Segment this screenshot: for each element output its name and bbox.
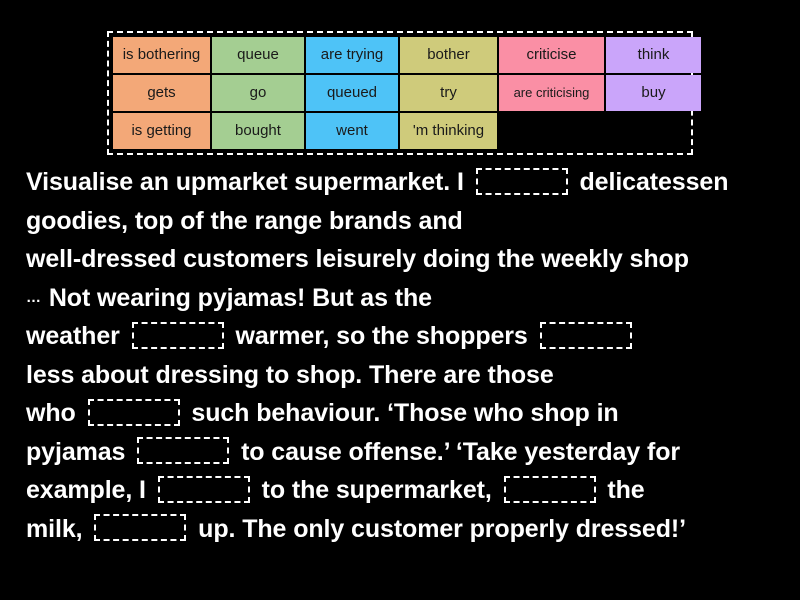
cloze-line: example, I to the supermarket, the: [26, 471, 778, 510]
word-tile[interactable]: is getting: [113, 113, 210, 149]
word-tile[interactable]: queued: [306, 75, 398, 111]
word-tile[interactable]: criticise: [499, 37, 604, 73]
word-tile[interactable]: bother: [400, 37, 497, 73]
answer-blank[interactable]: [476, 168, 568, 195]
word-tile[interactable]: are trying: [306, 37, 398, 73]
word-tile[interactable]: try: [400, 75, 497, 111]
cloze-line: pyjamas to cause offense.’ ‘Take yesterd…: [26, 433, 778, 472]
answer-blank[interactable]: [540, 322, 632, 349]
cloze-text-run: well-dressed customers leisurely doing t…: [26, 245, 689, 273]
ellipsis-mark: …: [26, 289, 42, 306]
word-bank-grid: is botheringqueueare tryingbothercritici…: [113, 37, 687, 149]
word-bank-container: is botheringqueueare tryingbothercritici…: [107, 31, 693, 155]
cloze-text-run: warmer, so the shoppers: [229, 322, 535, 350]
word-tile[interactable]: queue: [212, 37, 304, 73]
cloze-text-passage: Visualise an upmarket supermarket. I del…: [26, 163, 778, 548]
word-tile[interactable]: went: [306, 113, 398, 149]
cloze-text-run: the: [601, 476, 645, 504]
cloze-line: weather warmer, so the shoppers: [26, 317, 778, 356]
cloze-text-run: goodies, top of the range brands and: [26, 207, 463, 235]
cloze-text-run: such behaviour. ‘Those who shop in: [185, 399, 619, 427]
cloze-text-run: to the supermarket,: [255, 476, 499, 504]
word-tile[interactable]: 'm thinking: [400, 113, 497, 149]
cloze-text-run: pyjamas: [26, 438, 132, 466]
answer-blank[interactable]: [88, 399, 180, 426]
word-tile[interactable]: is bothering: [113, 37, 210, 73]
cloze-text-run: delicatessen: [573, 168, 729, 196]
word-tile[interactable]: are criticising: [499, 75, 604, 111]
answer-blank[interactable]: [158, 476, 250, 503]
cloze-text-run: weather: [26, 322, 127, 350]
word-tile[interactable]: bought: [212, 113, 304, 149]
answer-blank[interactable]: [94, 514, 186, 541]
cloze-text-run: example, I: [26, 476, 153, 504]
answer-blank[interactable]: [137, 437, 229, 464]
word-tile[interactable]: buy: [606, 75, 701, 111]
cloze-line: milk, up. The only customer properly dre…: [26, 510, 778, 549]
cloze-text-run: up. The only customer properly dressed!’: [191, 515, 686, 543]
cloze-text-run: to cause offense.’ ‘Take yesterday for: [234, 438, 680, 466]
answer-blank[interactable]: [132, 322, 224, 349]
cloze-line: well-dressed customers leisurely doing t…: [26, 240, 778, 279]
cloze-line: Visualise an upmarket supermarket. I del…: [26, 163, 778, 202]
cloze-line: who such behaviour. ‘Those who shop in: [26, 394, 778, 433]
word-tile[interactable]: gets: [113, 75, 210, 111]
cloze-text-run: Not wearing pyjamas! But as the: [42, 284, 432, 312]
cloze-line: less about dressing to shop. There are t…: [26, 356, 778, 395]
word-tile[interactable]: think: [606, 37, 701, 73]
word-tile-empty: [499, 113, 604, 149]
cloze-text-run: milk,: [26, 515, 89, 543]
cloze-text-run: who: [26, 399, 83, 427]
cloze-text-run: less about dressing to shop. There are t…: [26, 361, 554, 389]
cloze-line: … Not wearing pyjamas! But as the: [26, 279, 778, 318]
cloze-line: goodies, top of the range brands and: [26, 202, 778, 241]
answer-blank[interactable]: [504, 476, 596, 503]
word-tile[interactable]: go: [212, 75, 304, 111]
cloze-text-run: Visualise an upmarket supermarket. I: [26, 168, 471, 196]
word-tile-empty: [606, 113, 701, 149]
